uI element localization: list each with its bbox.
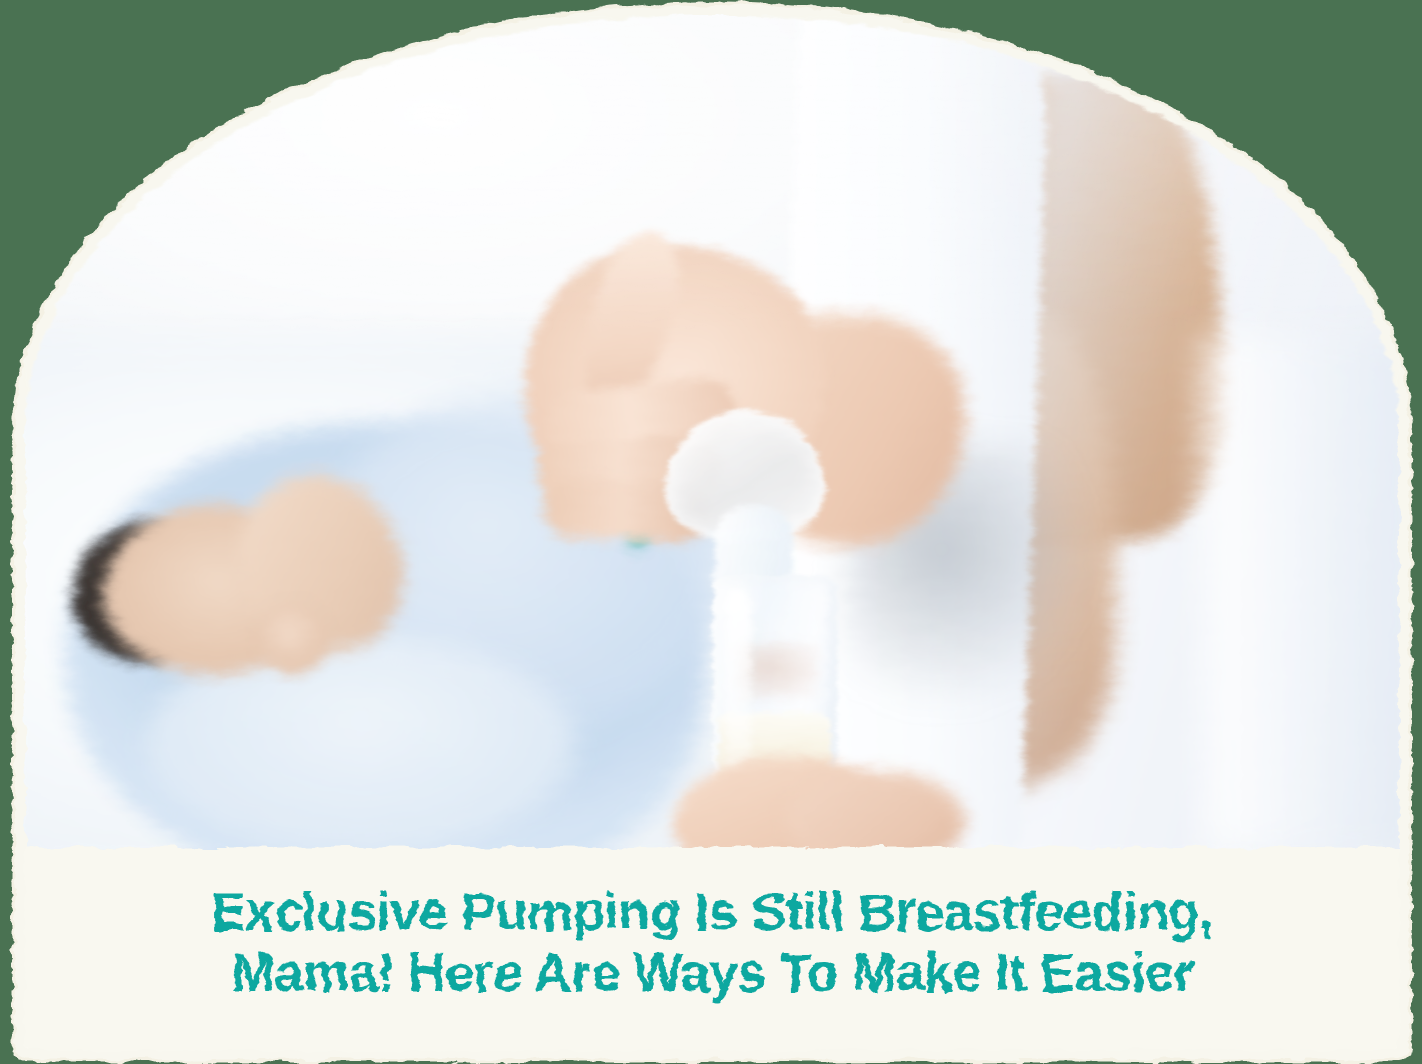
card-inner: Exclusive Pumping Is Still Breastfeeding… bbox=[25, 15, 1399, 1050]
caption-bar: Exclusive Pumping Is Still Breastfeeding… bbox=[25, 847, 1399, 1050]
shirt-fold-b bbox=[1205, 335, 1399, 847]
baby-hand bbox=[257, 603, 329, 675]
page-stage: Exclusive Pumping Is Still Breastfeeding… bbox=[0, 0, 1422, 1064]
article-title[interactable]: Exclusive Pumping Is Still Breastfeeding… bbox=[211, 882, 1213, 1003]
hero-photo bbox=[25, 15, 1399, 847]
article-card[interactable]: Exclusive Pumping Is Still Breastfeeding… bbox=[12, 2, 1412, 1062]
milk-bottle-highlight bbox=[725, 587, 751, 787]
